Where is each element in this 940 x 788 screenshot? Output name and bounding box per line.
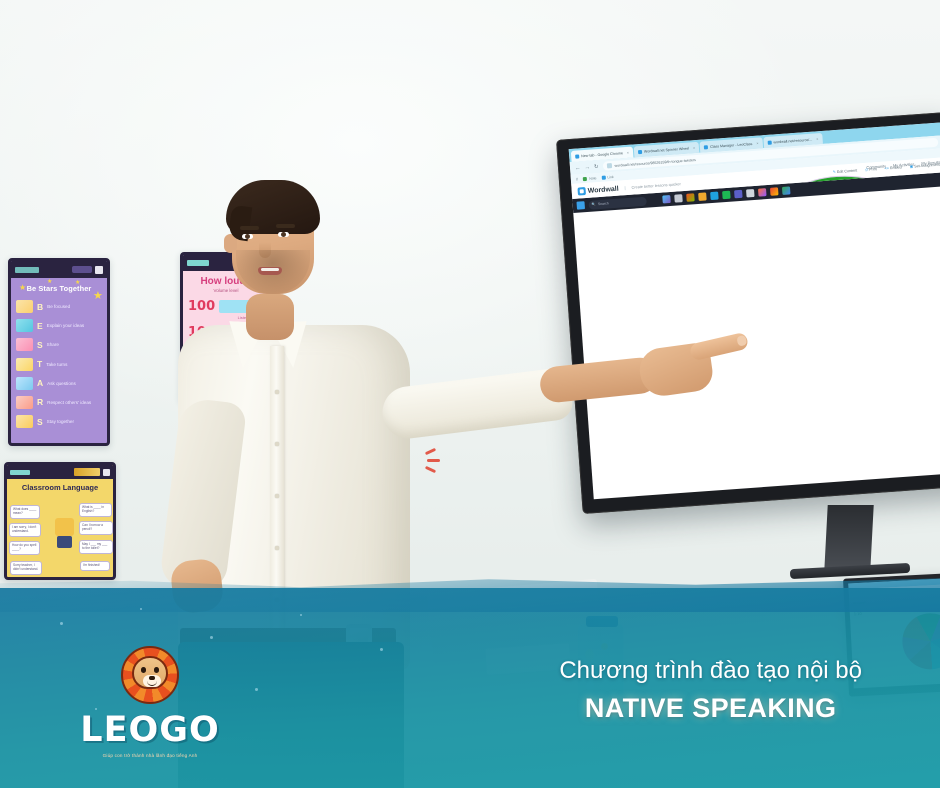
poster-header [7, 465, 113, 479]
headline-block: Chương trình đào tạo nội bộ NATIVE SPEAK… [559, 657, 862, 724]
poster-title: Classroom Language [7, 479, 113, 494]
site-info-icon[interactable] [606, 163, 611, 168]
wordwall-mark-icon [577, 187, 586, 196]
leogo-brand-lockup: LEOGO Giúp con trở thành nhà lãnh đạo ti… [64, 646, 236, 758]
poster-brand-mark [10, 470, 30, 475]
back-icon[interactable]: ← [575, 165, 581, 171]
poster-list-item: T Take turns [16, 356, 102, 373]
item-text: Explain your ideas [47, 323, 85, 328]
student-body [55, 518, 74, 536]
neck [246, 294, 294, 340]
poster-list-item: S Share [16, 336, 102, 353]
eyebrow-left [240, 226, 259, 230]
lion-face [132, 656, 168, 689]
search-placeholder: Search [598, 201, 609, 206]
reload-icon[interactable]: ↻ [594, 164, 599, 170]
speech-bubble: What is ____ in English? [79, 503, 112, 517]
item-letter: S [37, 417, 43, 427]
eye-left [242, 234, 253, 239]
chrome-canary-icon[interactable] [782, 186, 791, 195]
poster-brand-mark [15, 267, 39, 273]
tv-stand [824, 505, 873, 571]
tab-title: New tab - Google Chrome [581, 151, 623, 158]
poster-list-item: S Stay together [16, 413, 102, 430]
search-icon: 🔍 [592, 202, 597, 206]
copilot-icon[interactable] [662, 195, 671, 204]
lion-snout [143, 675, 161, 687]
student-legs [57, 536, 72, 548]
favicon-icon [767, 140, 771, 144]
item-icon [16, 377, 33, 390]
item-letter: B [37, 302, 43, 312]
eye-right [278, 232, 289, 237]
favicon-icon [704, 145, 708, 149]
item-text: Share [47, 342, 59, 347]
poster-list-item: R Respect others' ideas [16, 394, 102, 411]
poster-square [103, 469, 110, 476]
close-icon[interactable]: × [756, 141, 758, 145]
tab-title: Wordwall.net Spinner Wheel [644, 146, 689, 153]
bookmark-item[interactable]: Note [583, 176, 596, 181]
item-letter: A [37, 378, 43, 388]
wordwall-logo[interactable]: Wordwall [577, 185, 618, 196]
favicon-icon [575, 154, 579, 158]
leogo-wordmark: LEOGO [64, 710, 236, 750]
chrome-icon[interactable] [770, 187, 779, 196]
speech-bubble: Can I borrow a pencil? [79, 521, 113, 535]
shirt-button [275, 390, 279, 394]
close-icon[interactable]: × [816, 137, 818, 141]
poster-square [95, 266, 103, 274]
zalo-icon[interactable] [746, 189, 755, 198]
folder-icon[interactable] [698, 192, 707, 201]
poster-list-item: B Be focused [16, 298, 102, 315]
item-icon [16, 415, 33, 428]
forward-icon[interactable]: → [584, 164, 590, 170]
bottom-brand-overlay: LEOGO Giúp con trở thành nhà lãnh đạo ti… [0, 588, 940, 788]
poster-be-stars-together: Be Stars Together ★ ★ ★ ★ B Be focused E… [8, 258, 110, 446]
poster-item-list: B Be focused E Explain your ideas S Shar… [11, 295, 107, 430]
speech-bubble: I'm finished! [80, 561, 110, 571]
speech-bubble: May I ___ my ___ to the toilet? [79, 540, 113, 554]
item-icon [16, 396, 33, 409]
poster-list-item: A Ask questions [16, 375, 102, 392]
speech-bubble: I am sorry, I don't understand. [9, 523, 41, 537]
headline-line-1: Chương trình đào tạo nội bộ [559, 657, 862, 685]
poster-list-item: E Explain your ideas [16, 317, 102, 334]
item-text: Stay together [47, 419, 74, 424]
wordwall-logo-text: Wordwall [587, 185, 618, 194]
close-icon[interactable]: × [627, 150, 629, 154]
item-text: Ask questions [47, 381, 76, 386]
headline-line-2: NATIVE SPEAKING [559, 693, 862, 724]
item-letter: S [37, 340, 43, 350]
shirt-button [275, 494, 279, 498]
star-icon: ★ [93, 289, 103, 302]
item-text: Take turns [46, 362, 67, 367]
item-letter: R [37, 397, 43, 407]
search-input[interactable]: 🔍 Search [588, 196, 646, 209]
item-text: Be focused [47, 304, 70, 309]
leogo-tagline: Giúp con trở thành nhà lãnh đạo tiếng An… [64, 753, 236, 758]
poster-header [11, 261, 107, 278]
apps-grid-icon[interactable]: ⠿ [576, 177, 579, 181]
speech-bubble: Sorry teacher, I didn't understand. [10, 561, 42, 575]
lion-eye-right [154, 667, 159, 673]
file-explorer-icon[interactable] [674, 194, 683, 203]
poster-gold-bar [74, 468, 100, 476]
eyebrow-right [276, 224, 295, 228]
bookmark-label: Link [607, 174, 614, 178]
item-text: Respect others' ideas [47, 400, 91, 405]
bookmark-icon [583, 176, 587, 180]
item-icon [16, 319, 33, 332]
poster-classroom-language: Classroom Language What does ____ mean? … [4, 462, 116, 580]
printer-icon: ⎙ [865, 168, 868, 172]
code-icon: <> [885, 166, 890, 170]
wall-mounted-tv: New tab - Google Chrome × Wordwall.net S… [556, 112, 940, 514]
item-letter: E [37, 321, 43, 331]
star-icon: ★ [47, 278, 52, 285]
shirt-button [275, 442, 279, 446]
windows-start-icon[interactable] [576, 201, 585, 210]
shirt-button [275, 546, 279, 550]
bookmark-item[interactable]: Link [601, 174, 613, 179]
item-letter: T [37, 359, 42, 369]
item-icon [16, 358, 33, 371]
star-icon: ★ [19, 283, 26, 292]
close-icon[interactable]: × [693, 146, 695, 150]
poster-pill [72, 266, 92, 273]
mouth [258, 267, 282, 275]
wordwall-tagline: Create better lessons quicker [624, 182, 681, 190]
lion-eye-left [141, 667, 146, 673]
bookmark-label: Note [589, 176, 596, 181]
edge-icon[interactable] [710, 192, 719, 201]
lion-icon [121, 646, 179, 704]
item-icon [16, 338, 33, 351]
speech-bubble: What does ____ mean? [10, 505, 40, 519]
tab-title: Class Manager - LeoClass [710, 141, 753, 148]
firefox-icon[interactable] [758, 188, 767, 197]
teams-icon[interactable] [734, 190, 743, 199]
tab-title: wordwall.net/resource/... [773, 137, 812, 144]
nose [259, 242, 271, 258]
speech-bubble: How do you spell ____? [9, 541, 40, 555]
tv-screen[interactable]: New tab - Google Chrome × Wordwall.net S… [569, 122, 940, 499]
pencil-icon: ✎ [833, 170, 836, 174]
office-icon[interactable] [686, 193, 695, 202]
star-icon: ★ [75, 279, 80, 286]
bookmark-icon [601, 175, 605, 179]
screenshot-stage: Be Stars Together ★ ★ ★ ★ B Be focused E… [0, 0, 940, 788]
item-icon [16, 300, 33, 313]
favicon-icon [638, 149, 642, 153]
student-illustration [52, 503, 76, 555]
print-link[interactable]: ⎙ Print [865, 167, 877, 172]
spotify-icon[interactable] [722, 191, 731, 200]
